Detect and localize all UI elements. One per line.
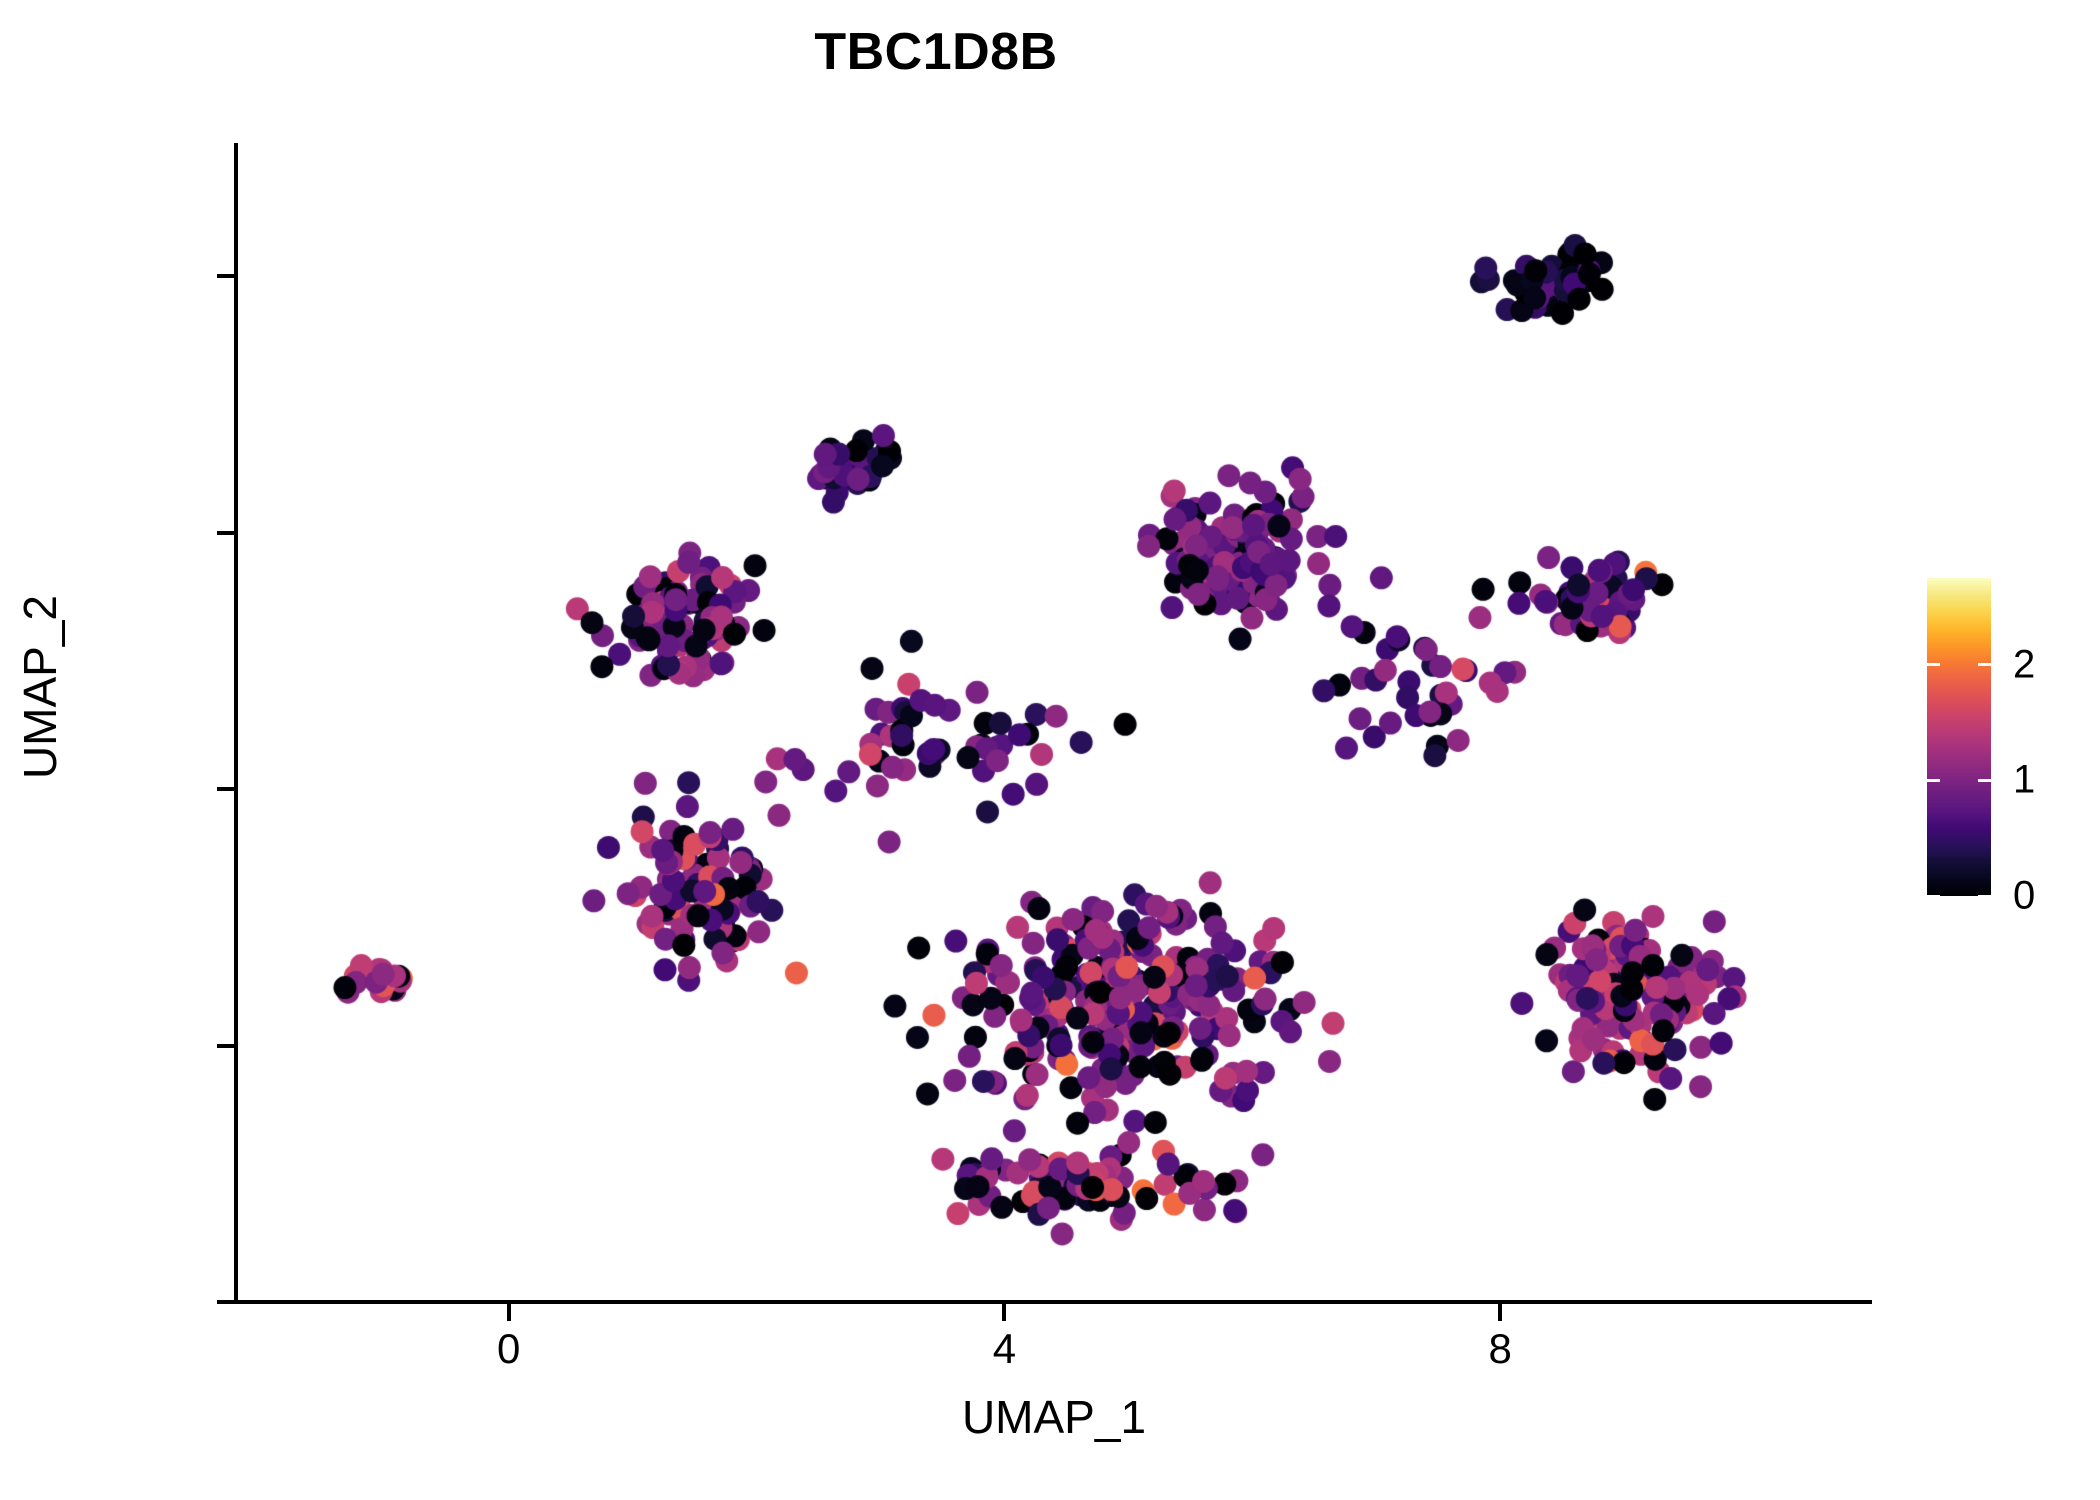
- x-axis-line: [234, 1300, 1872, 1304]
- x-tick-mark: [1002, 1304, 1006, 1321]
- y-tick-mark: [217, 1300, 234, 1304]
- x-tick-mark: [507, 1304, 511, 1321]
- legend-tick-mark: [1978, 663, 1991, 666]
- legend-tick-mark: [1927, 895, 1940, 898]
- umap-feature-plot: TBC1D8B 7.55.02.50.0-2.5 048 UMAP_1 UMAP…: [0, 0, 2100, 1500]
- x-axis-title: UMAP_1: [236, 1390, 1872, 1444]
- plot-panel: [236, 143, 1872, 1302]
- y-axis-line: [234, 143, 238, 1304]
- x-tick-label: 8: [1488, 1325, 1511, 1373]
- x-tick-label: 4: [993, 1325, 1016, 1373]
- legend-colorbar: [1927, 578, 1991, 896]
- legend-tick-mark: [1927, 663, 1940, 666]
- legend-tick-label: 1: [2013, 758, 2035, 803]
- y-tick-mark: [217, 531, 234, 535]
- page-title: TBC1D8B: [0, 22, 1872, 82]
- legend-tick-label: 0: [2013, 874, 2035, 919]
- y-tick-mark: [217, 787, 234, 791]
- y-axis-title: UMAP_2: [13, 387, 67, 987]
- legend-tick-label: 2: [2013, 642, 2035, 687]
- legend-tick-mark: [1978, 895, 1991, 898]
- legend-tick-mark: [1978, 779, 1991, 782]
- x-tick-label: 0: [497, 1325, 520, 1373]
- y-tick-mark: [217, 1044, 234, 1048]
- y-tick-mark: [217, 274, 234, 278]
- legend-tick-mark: [1927, 779, 1940, 782]
- scatter-plot-canvas: [236, 143, 1872, 1302]
- x-tick-mark: [1498, 1304, 1502, 1321]
